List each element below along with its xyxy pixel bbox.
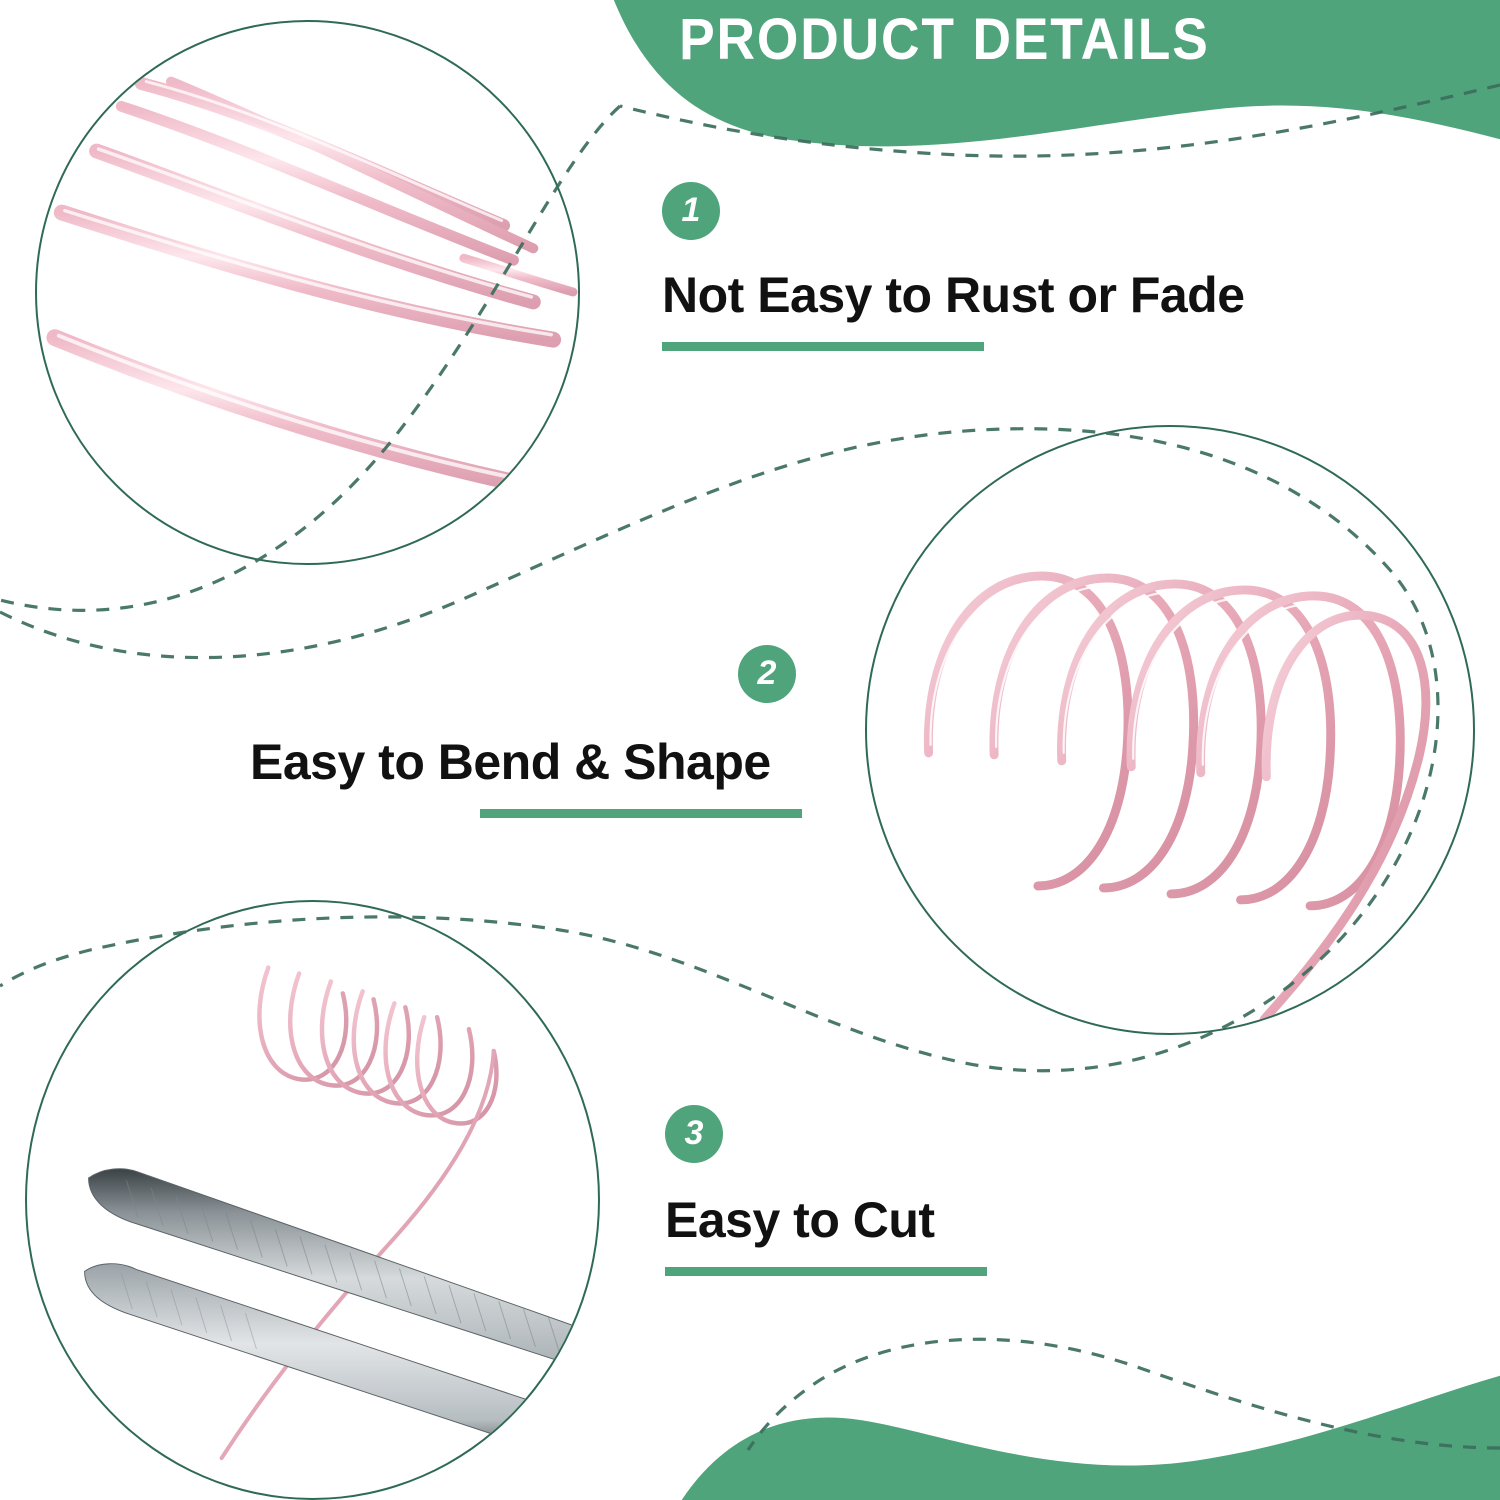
feature-underline-1 — [662, 342, 984, 351]
feature-underline-2 — [480, 809, 802, 818]
page-title: PRODUCT DETAILS — [650, 10, 1239, 71]
feature-number-badge-2: 2 — [738, 645, 796, 703]
feature-headline-3: Easy to Cut — [665, 1191, 935, 1249]
feature-number-badge-1: 1 — [662, 182, 720, 240]
feature-underline-3 — [665, 1267, 987, 1276]
feature-number-badge-3: 3 — [665, 1105, 723, 1163]
content-layer: PRODUCT DETAILS 1 Not Easy to Rust or Fa… — [0, 0, 1500, 1500]
infographic-canvas: PRODUCT DETAILS 1 Not Easy to Rust or Fa… — [0, 0, 1500, 1500]
feature-headline-1: Not Easy to Rust or Fade — [662, 266, 1245, 324]
feature-headline-2: Easy to Bend & Shape — [250, 733, 771, 791]
